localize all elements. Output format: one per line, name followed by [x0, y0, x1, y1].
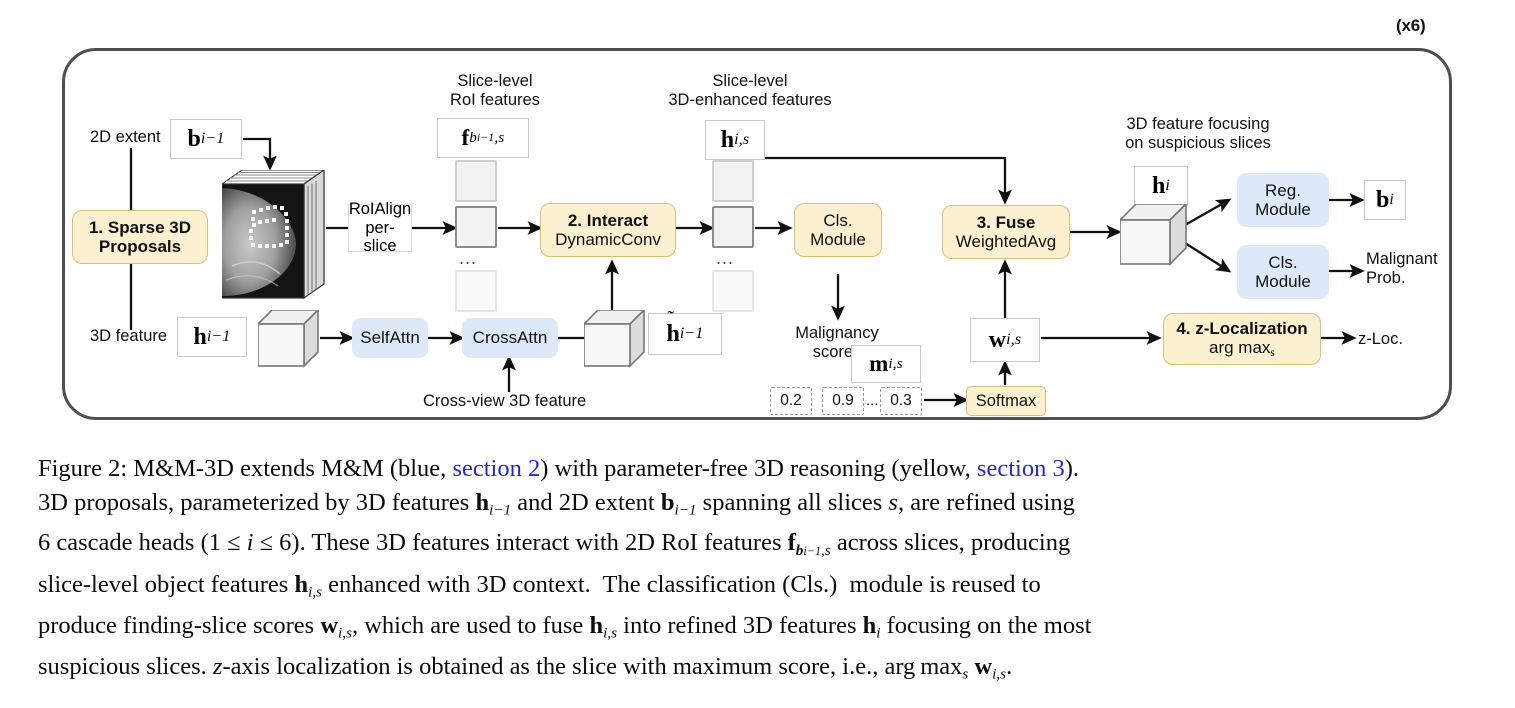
cube-h-prev — [258, 310, 320, 368]
module-sparse-3d-proposals[interactable]: 1. Sparse 3D Proposals — [72, 210, 208, 264]
caption-line-3: 6 cascade heads (1 ≤ i ≤ 6). These 3D fe… — [38, 526, 1486, 568]
roi-slice-box-2 — [455, 206, 497, 248]
label-slice-roi-features: Slice-level RoI features — [425, 72, 565, 110]
malignancy-score-chip-2: 0.9 — [822, 387, 864, 415]
symbol-b-prev: bi−1 — [170, 119, 242, 159]
roi-slice-ellipsis: ... — [459, 248, 477, 269]
label-3d-focus: 3D feature focusing on suspicious slices — [1063, 115, 1333, 153]
label-roialign: RoIAlign per-slice — [348, 204, 412, 252]
module-interact-dynamicconv[interactable]: 2. Interact DynamicConv — [540, 203, 676, 257]
module-fuse-title: 3. Fuse — [977, 213, 1036, 232]
slice-roi-line2: RoI features — [450, 91, 540, 109]
cls-right-line2: Module — [1255, 272, 1311, 291]
cls-middle-line1: Cls. — [823, 211, 852, 230]
enh-slice-ellipsis: ... — [716, 248, 734, 269]
slice-enh-line1: Slice-level — [712, 72, 787, 90]
roi-slice-box-1 — [455, 160, 497, 202]
cube-h-i — [1120, 204, 1188, 266]
symbol-m-is: mi,s — [851, 345, 921, 383]
enh-slice-box-1 — [712, 160, 754, 202]
module-fuse-weightedavg[interactable]: 3. Fuse WeightedAvg — [942, 205, 1070, 259]
symbol-h-is: hi,s — [705, 120, 765, 160]
focus-line2: on suspicious slices — [1125, 134, 1271, 152]
label-2d-extent: 2D extent — [90, 128, 161, 147]
cls-middle-line2: Module — [810, 230, 866, 249]
caption-link-section-3[interactable]: section 3 — [977, 455, 1065, 482]
symbol-h-tilde-prev: h˜i−1 — [648, 313, 722, 355]
zloc-subtitle: arg max — [1209, 338, 1270, 357]
caption-line-2: 3D proposals, parameterized by 3D featur… — [38, 486, 1486, 527]
symbol-h-i: hi — [1134, 166, 1188, 206]
module-softmax[interactable]: Softmax — [966, 386, 1046, 416]
slice-enh-line2: 3D-enhanced features — [668, 91, 831, 109]
malignant-line1: Malignant — [1366, 250, 1438, 268]
symbol-b-i: bi — [1364, 180, 1406, 220]
zloc-title: 4. z-Localization — [1176, 319, 1307, 338]
label-cross-view-3d-feature: Cross-view 3D feature — [423, 392, 586, 411]
module-cls-middle[interactable]: Cls. Module — [794, 203, 882, 257]
cube-h-tilde-prev — [584, 310, 646, 368]
repeat-count-badge: (x6) — [1396, 16, 1425, 36]
slice-roi-line1: Slice-level — [457, 72, 532, 90]
malignant-line2: Prob. — [1366, 269, 1405, 287]
zloc-subtitle-wrap: arg maxs — [1209, 338, 1275, 360]
reg-line2: Module — [1255, 200, 1311, 219]
caption-link-section-2[interactable]: section 2 — [452, 455, 540, 482]
malignancy-score-ellipsis: ... — [866, 392, 879, 409]
malignancy-score-chip-1: 0.2 — [770, 387, 812, 415]
label-z-loc-output: z-Loc. — [1358, 330, 1403, 349]
roi-slice-box-3 — [455, 270, 497, 312]
malignancy-line1: Malignancy — [795, 324, 878, 342]
crossattn-label: CrossAttn — [473, 328, 548, 347]
zloc-subtitle-sub: s — [1270, 347, 1275, 359]
module-cls-right[interactable]: Cls. Module — [1237, 245, 1329, 299]
module-fuse-subtitle: WeightedAvg — [956, 232, 1057, 251]
label-malignant-prob: Malignant Prob. — [1366, 250, 1470, 288]
caption-line-1: Figure 2: M&M-3D extends M&M (blue, sect… — [38, 452, 1486, 486]
enh-slice-box-2 — [712, 206, 754, 248]
label-3d-feature: 3D feature — [90, 327, 167, 346]
symbol-h-prev: hi−1 — [177, 317, 247, 357]
caption-line-6: suspicious slices. z-axis localization i… — [38, 650, 1486, 691]
module-sparse-title: 1. Sparse 3D — [89, 218, 191, 237]
roialign-line1: RoIAlign — [349, 200, 411, 218]
module-interact-title: 2. Interact — [568, 211, 648, 230]
module-interact-subtitle: DynamicConv — [555, 230, 661, 249]
selfattn-label: SelfAttn — [360, 328, 420, 347]
softmax-label: Softmax — [976, 392, 1037, 410]
symbol-w-is: wi,s — [970, 318, 1040, 362]
caption-line-5: produce finding-slice scores wi,s, which… — [38, 609, 1486, 650]
focus-line1: 3D feature focusing — [1126, 115, 1269, 133]
module-crossattn[interactable]: CrossAttn — [462, 318, 558, 358]
label-slice-enhanced-features: Slice-level 3D-enhanced features — [610, 72, 890, 110]
symbol-f-roi: fbi−1,s — [437, 118, 529, 158]
roialign-line2: per-slice — [349, 219, 411, 256]
module-z-localization[interactable]: 4. z-Localization arg maxs — [1163, 313, 1321, 365]
module-sparse-subtitle: Proposals — [99, 237, 181, 256]
reg-line1: Reg. — [1265, 181, 1301, 200]
mammogram-volume — [222, 170, 328, 304]
enh-slice-box-3 — [712, 270, 754, 312]
figure-caption: Figure 2: M&M-3D extends M&M (blue, sect… — [38, 452, 1486, 690]
malignancy-score-chip-3: 0.3 — [880, 387, 922, 415]
caption-line-4: slice-level object features hi,s enhance… — [38, 568, 1486, 609]
module-selfattn[interactable]: SelfAttn — [352, 318, 428, 358]
cls-right-line1: Cls. — [1268, 253, 1297, 272]
module-reg[interactable]: Reg. Module — [1237, 173, 1329, 227]
figure-diagram: (x6) — [0, 0, 1515, 440]
